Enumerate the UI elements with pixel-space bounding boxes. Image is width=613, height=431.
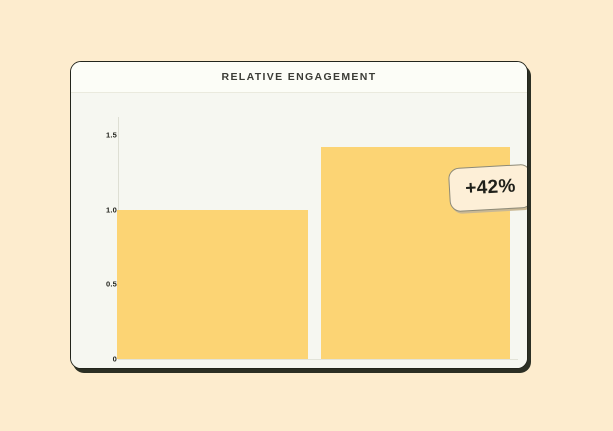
chart-plot-area: 1.5 1.0 0.5 0 Posts with unanswered comm…	[71, 93, 527, 369]
y-axis-tick: 1.5	[85, 130, 117, 139]
y-axis-tick: 0	[85, 355, 117, 364]
chart-card: RELATIVE ENGAGEMENT 1.5 1.0 0.5 0 Posts …	[70, 61, 528, 369]
y-axis-tick: 1.0	[85, 205, 117, 214]
x-axis-baseline	[118, 359, 518, 360]
percent-change-badge: +42%	[448, 164, 528, 213]
bar	[117, 210, 308, 359]
y-axis-tick-labels: 1.5 1.0 0.5 0	[83, 93, 117, 369]
percent-change-label: +42%	[465, 176, 516, 201]
y-axis-tick: 0.5	[85, 280, 117, 289]
chart-card-header: RELATIVE ENGAGEMENT	[71, 62, 527, 93]
chart-title: RELATIVE ENGAGEMENT	[222, 71, 377, 83]
